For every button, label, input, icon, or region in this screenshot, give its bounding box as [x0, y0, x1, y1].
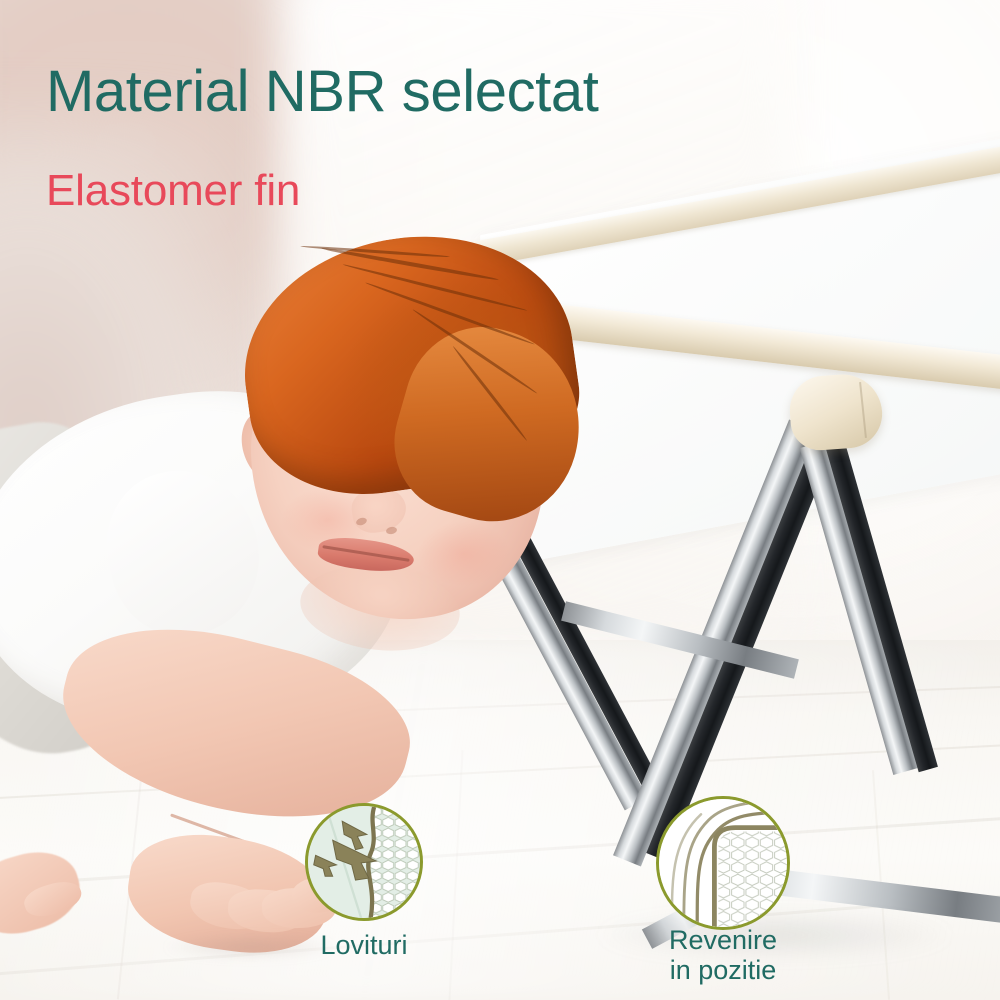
product-feature-poster: Material NBR selectat Elastomer fin: [0, 0, 1000, 1000]
baby-subject: [0, 0, 1000, 1000]
page-subtitle: Elastomer fin: [46, 168, 300, 214]
baby-cheek: [418, 522, 510, 586]
page-title: Material NBR selectat: [46, 62, 598, 123]
impact-arrows-honeycomb-icon: [305, 803, 423, 921]
badge-rebound-label: Revenire in pozitie: [643, 925, 803, 985]
badge-impact-label: Lovituri: [284, 930, 444, 960]
rebound-corner-honeycomb-icon: [656, 796, 790, 930]
